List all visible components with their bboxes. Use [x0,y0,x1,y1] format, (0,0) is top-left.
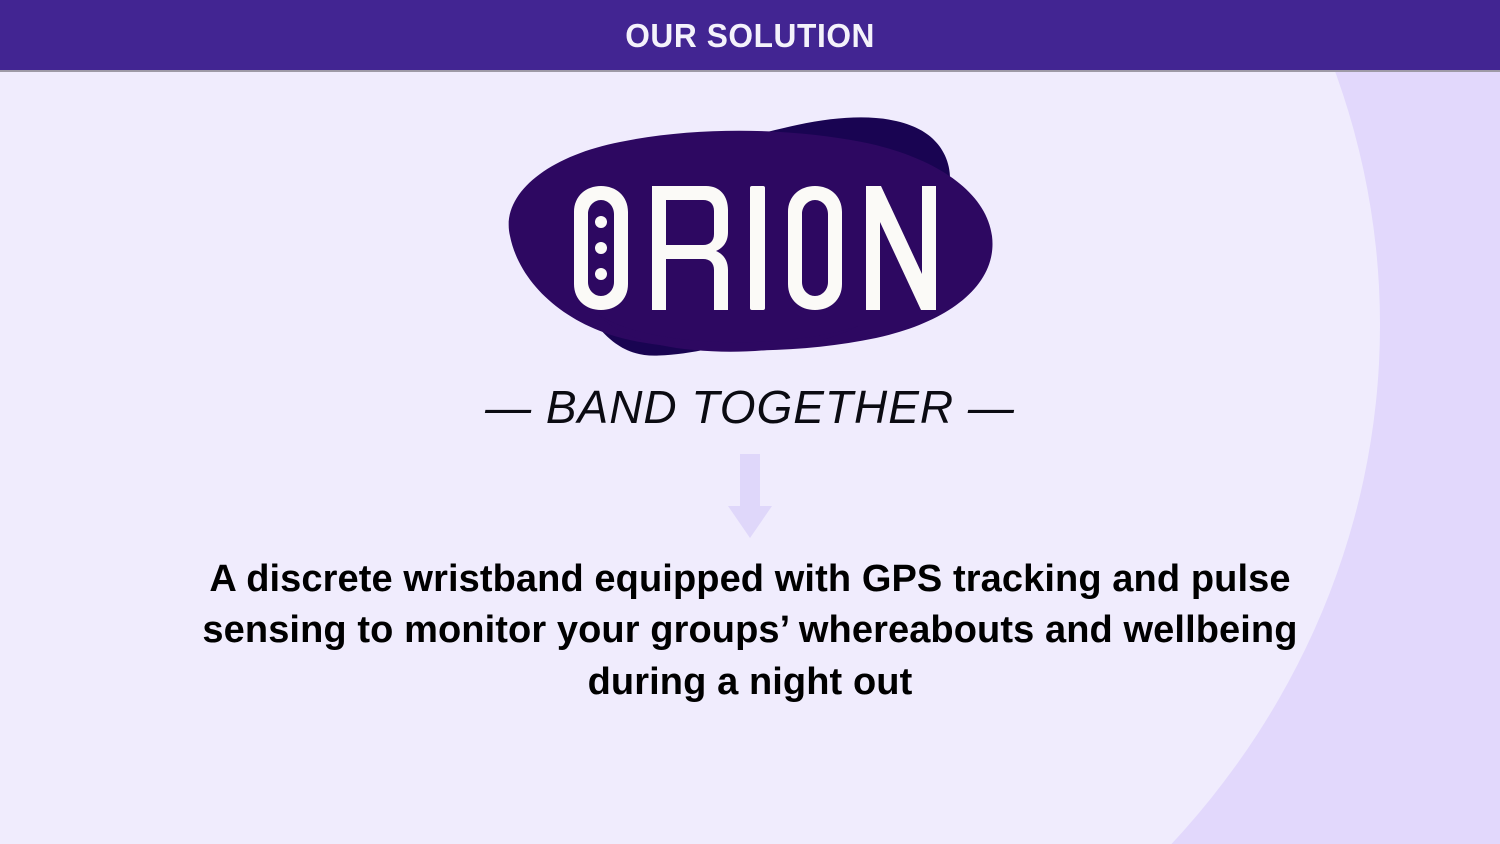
band-dot-3 [595,268,607,280]
header-band: OUR SOLUTION [0,0,1500,72]
band-dot-1 [595,216,607,228]
tagline: — BAND TOGETHER — [0,380,1500,434]
orion-logo [470,118,1030,368]
slide-canvas: OUR SOLUTION [0,0,1500,844]
slide-content: — BAND TOGETHER — A discrete wristband e… [0,72,1500,844]
band-dot-2 [595,242,607,254]
arrow-down-icon [726,454,774,538]
logo-block [0,118,1500,368]
page-title: OUR SOLUTION [625,19,875,52]
solution-description: A discrete wristband equipped with GPS t… [170,554,1330,708]
arrow-block [0,454,1500,544]
